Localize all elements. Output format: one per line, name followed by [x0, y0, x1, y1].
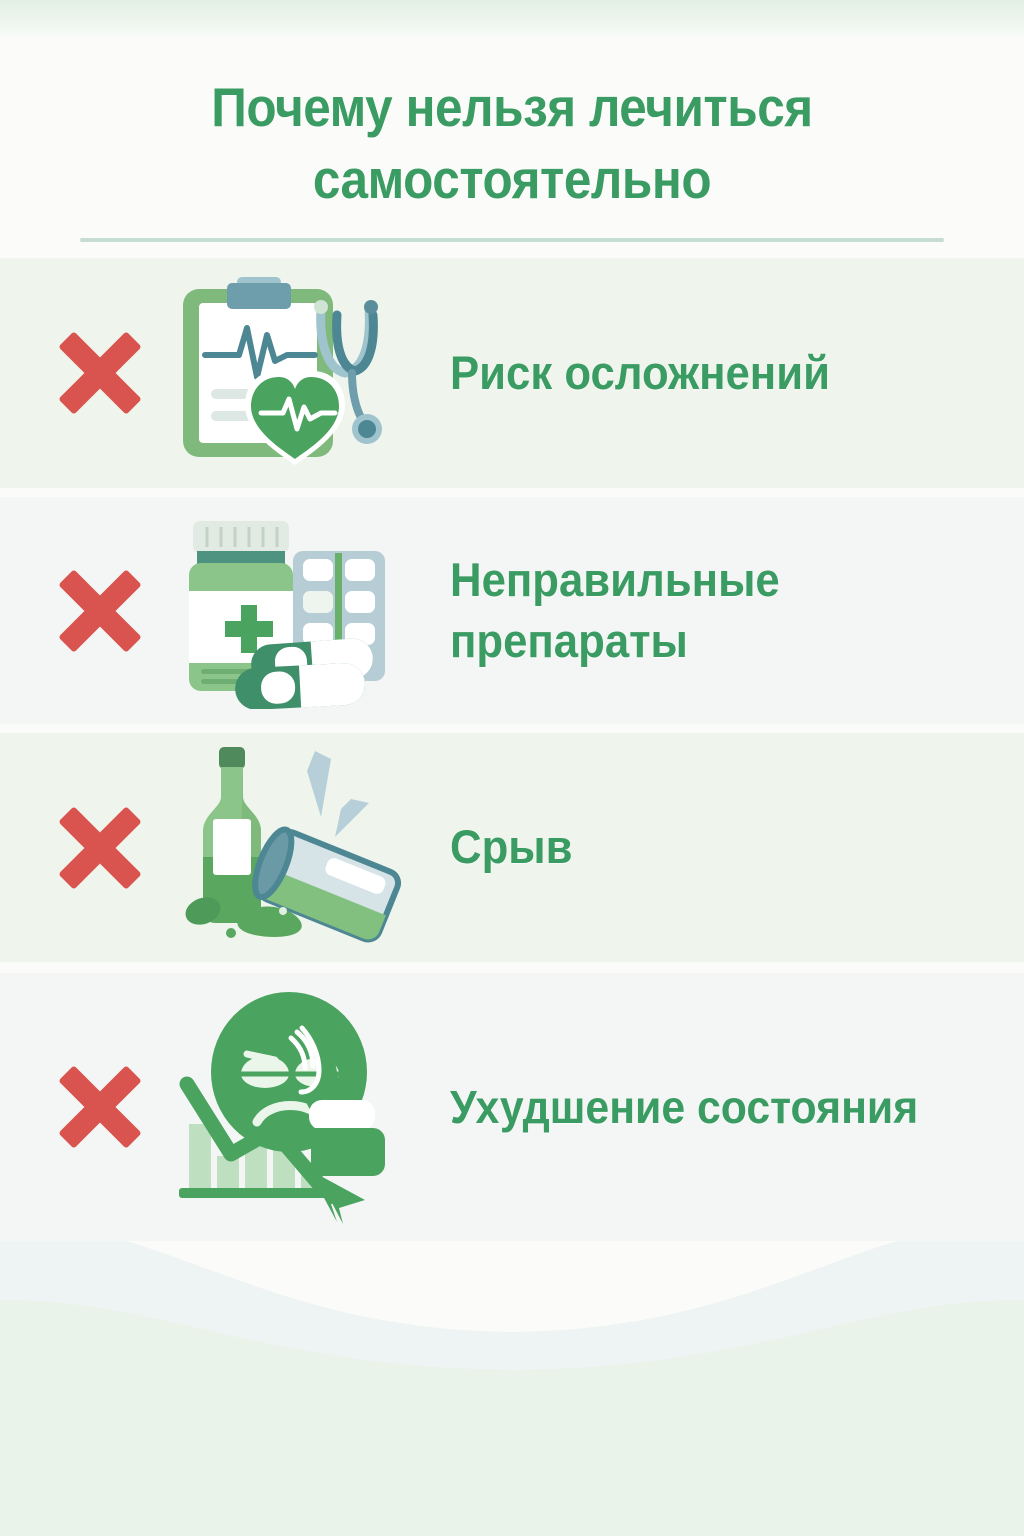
sad-face-declining-chart-icon: [162, 973, 412, 1241]
list-item-label: Срыв: [450, 817, 572, 877]
pill-bottle-blister-capsules-icon: [162, 497, 412, 724]
red-x-icon: [52, 1059, 148, 1155]
list-item: Риск осложнений: [0, 258, 1024, 488]
bottle-spilled-glass-icon: [162, 733, 412, 962]
list-item-label: Риск осложнений: [450, 343, 830, 403]
title-divider: [80, 238, 944, 242]
page-title: Почему нельзя лечиться самостоятельно: [51, 72, 973, 215]
red-x-icon: [52, 563, 148, 659]
list-item: Неправильные препараты: [0, 497, 1024, 724]
list-item-label: Ухудшение состояния: [450, 1078, 918, 1137]
list-item: Ухудшение состояния: [0, 973, 1024, 1241]
page-title-line-1: Почему нельзя лечиться: [51, 72, 973, 144]
clipboard-ecg-heart-stethoscope-icon: [162, 258, 412, 488]
red-x-icon: [52, 800, 148, 896]
page-title-line-2: самостоятельно: [51, 144, 973, 216]
infographic-page: Почему нельзя лечиться самостоятельно: [0, 0, 1024, 1536]
list-item-label: Неправильные препараты: [450, 550, 780, 670]
list-item: Срыв: [0, 733, 1024, 962]
top-gradient-band: [0, 0, 1024, 42]
red-x-icon: [52, 325, 148, 421]
